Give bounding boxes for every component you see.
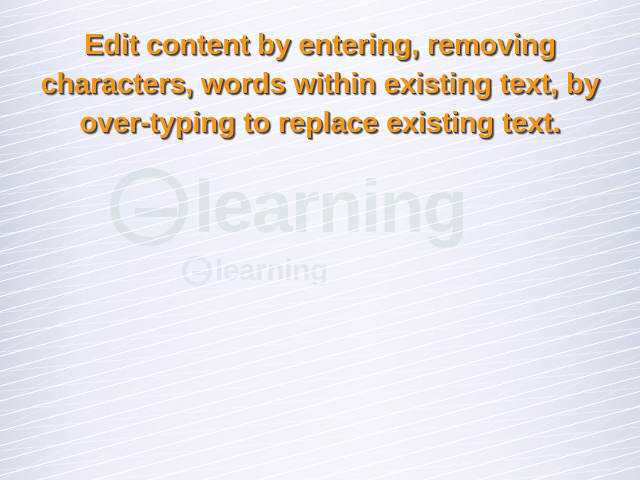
slide-body-text: Edit content by entering, removing chara… — [14, 26, 626, 143]
slide-canvas: learning learning Edit content by enteri… — [0, 0, 640, 480]
